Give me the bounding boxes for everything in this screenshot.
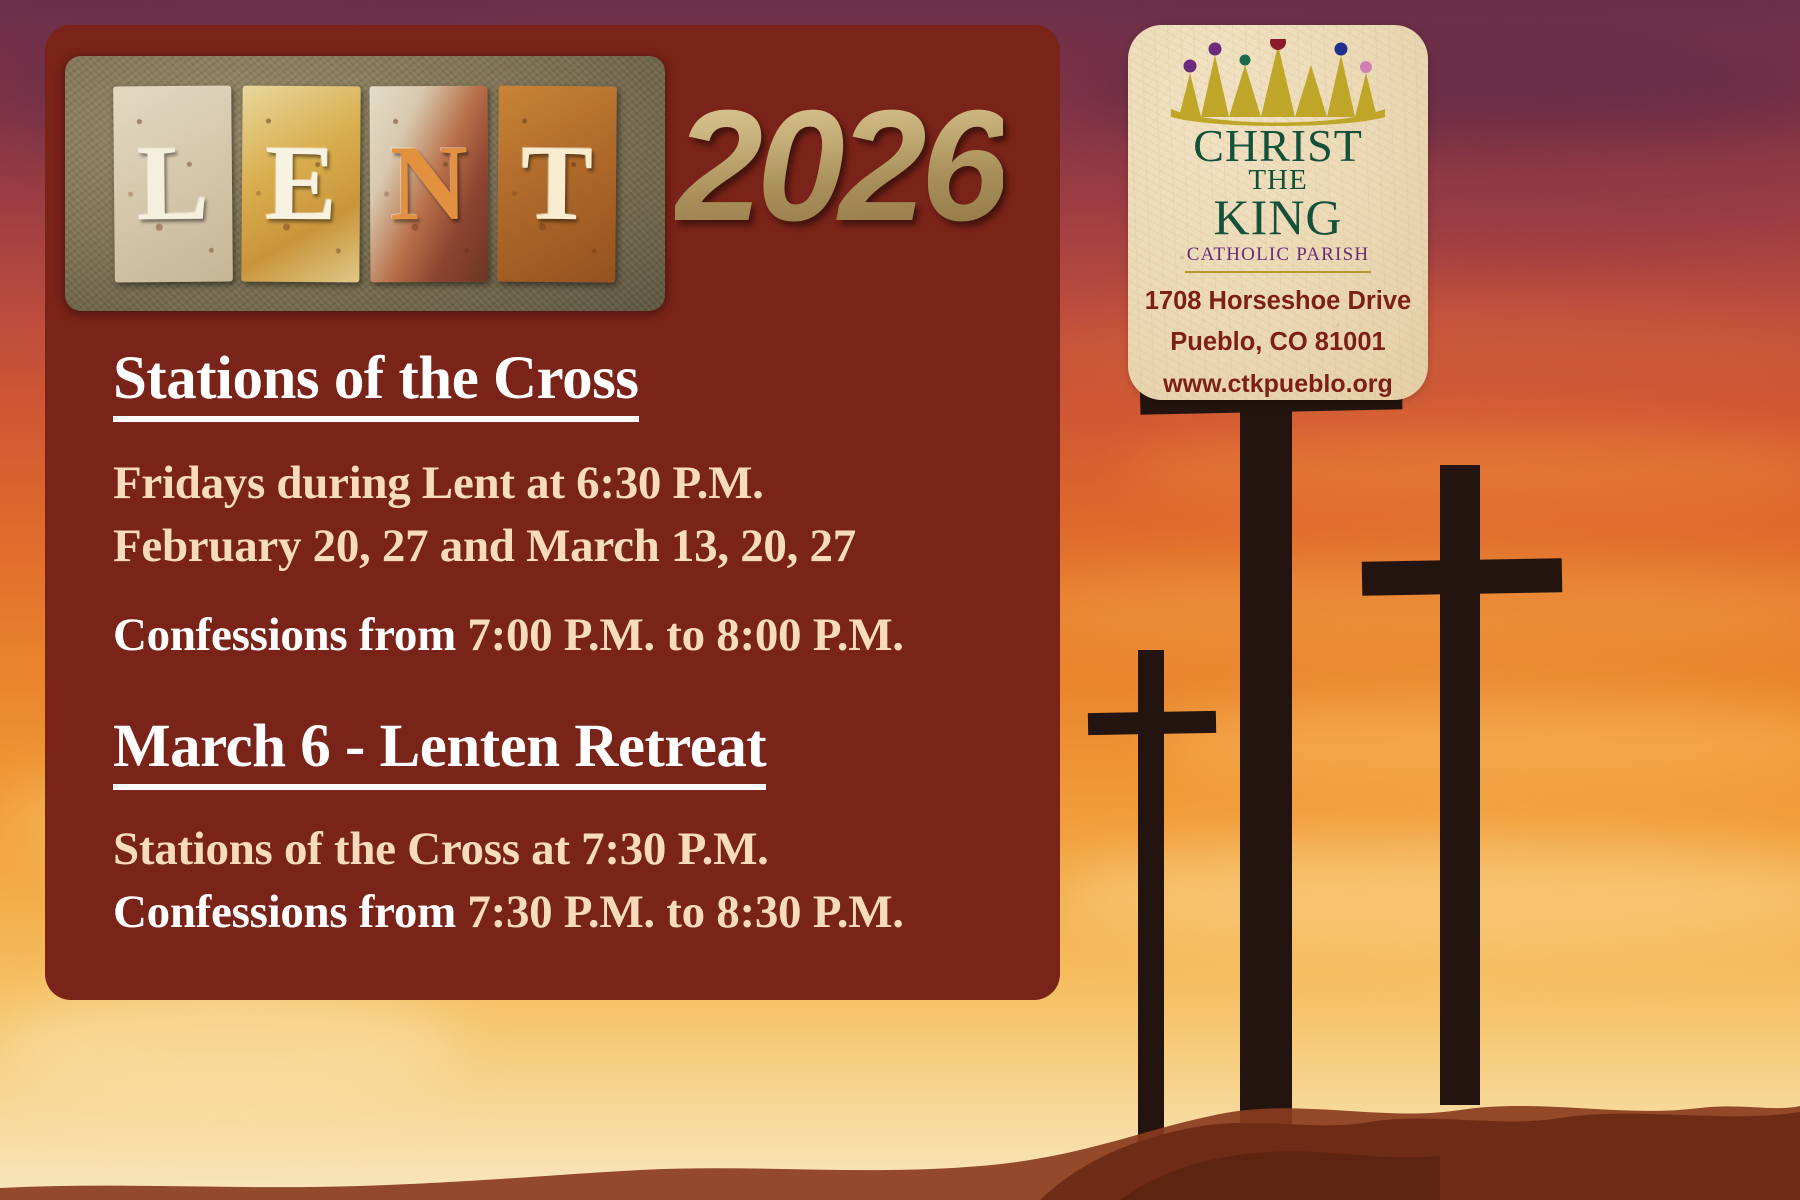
confessions-label-2: Confessions from	[113, 886, 467, 938]
confessions-line-1: Confessions from 7:00 P.M. to 8:00 P.M.	[113, 604, 1113, 667]
lent-letterpress-image: L E N T	[65, 56, 665, 311]
letter-block: T	[497, 85, 617, 282]
parish-website[interactable]: www.ctkpueblo.org	[1128, 372, 1428, 397]
letter-block: L	[113, 85, 233, 282]
year-label: 2026	[675, 87, 1003, 245]
heading-march-6-lenten-retreat: March 6 - Lenten Retreat	[113, 713, 766, 790]
parish-address: 1708 Horseshoe Drive Pueblo, CO 81001 ww…	[1128, 289, 1428, 397]
announcement-panel: L E N T 2026 Stations of the Cross Frida…	[45, 25, 1060, 1000]
rocky-hill-silhouette	[0, 1070, 1800, 1200]
parish-name-king: KING	[1128, 194, 1428, 240]
retreat-stations-time: Stations of the Cross at 7:30 P.M.	[113, 818, 1113, 881]
letter-e: E	[265, 129, 338, 238]
schedule-dates: February 20, 27 and March 13, 20, 27	[113, 515, 1113, 578]
confessions-times-2: 7:30 P.M. to 8:30 P.M.	[467, 886, 903, 938]
letter-block: N	[369, 85, 488, 282]
confessions-label-1: Confessions from	[113, 609, 467, 661]
letter-block: E	[241, 85, 360, 282]
crown-icon	[1163, 39, 1393, 127]
letter-n: N	[390, 129, 469, 237]
confessions-times-1: 7:00 P.M. to 8:00 P.M.	[467, 609, 903, 661]
letter-t: T	[520, 129, 593, 238]
heading-retreat-wrap: March 6 - Lenten Retreat	[113, 713, 1113, 790]
logo-divider	[1185, 271, 1371, 273]
heading-stations-wrap: Stations of the Cross	[113, 345, 1113, 422]
parish-logo-card: CHRIST THE KING CATHOLIC PARISH 1708 Hor…	[1128, 25, 1428, 400]
parish-logo-content: CHRIST THE KING CATHOLIC PARISH 1708 Hor…	[1128, 25, 1428, 397]
address-street: 1708 Horseshoe Drive	[1128, 289, 1428, 315]
confessions-line-2: Confessions from 7:30 P.M. to 8:30 P.M.	[113, 881, 1113, 944]
parish-subtitle: CATHOLIC PARISH	[1128, 244, 1428, 266]
parish-name-christ: CHRIST	[1128, 125, 1428, 167]
parish-name: CHRIST THE KING	[1128, 125, 1428, 240]
address-city-state-zip: Pueblo, CO 81001	[1128, 330, 1428, 356]
letter-l: L	[136, 129, 209, 238]
schedule-fridays: Fridays during Lent at 6:30 P.M.	[113, 452, 1113, 515]
announcement-copy: Stations of the Cross Fridays during Len…	[113, 345, 1113, 944]
heading-stations-of-the-cross: Stations of the Cross	[113, 345, 639, 422]
lent-letter-blocks: L E N T	[65, 56, 665, 311]
